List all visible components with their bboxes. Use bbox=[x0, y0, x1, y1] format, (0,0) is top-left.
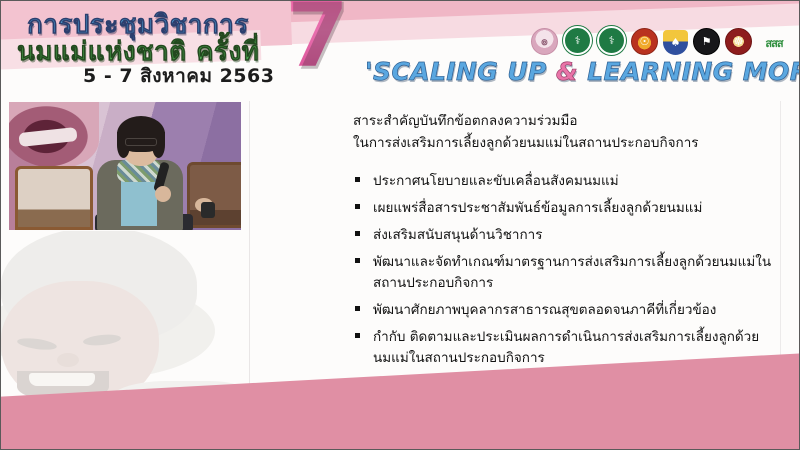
logo-glyph: ⚕ bbox=[609, 35, 615, 46]
logo-glyph: ☸ bbox=[734, 36, 744, 47]
logo-glyph: ๏ bbox=[541, 36, 548, 47]
logo-glyph: ☉ bbox=[640, 36, 650, 47]
list-item: ประกาศนโยบายและขับเคลื่อนสังคมนมแม่ bbox=[353, 171, 773, 192]
list-item: ส่งเสริมสนับสนุนด้านวิชาการ bbox=[353, 225, 773, 246]
logo-green-health-1-icon: ⚕ bbox=[563, 26, 592, 55]
logo-blue-yellow-emblem-icon: ♠ bbox=[663, 30, 688, 55]
commitment-bullet-list: ประกาศนโยบายและขับเคลื่อนสังคมนมแม่ เผยแ… bbox=[353, 171, 773, 369]
list-item-label: เผยแพร่สื่อสารประชาสัมพันธ์ข้อมูลการเลี้… bbox=[373, 200, 702, 216]
edition-number: 7 bbox=[285, 0, 349, 81]
bullet-square-icon bbox=[355, 333, 360, 338]
bullet-square-icon bbox=[355, 177, 360, 182]
list-item: เผยแพร่สื่อสารประชาสัมพันธ์ข้อมูลการเลี้… bbox=[353, 198, 773, 219]
logo-glyph: ♠ bbox=[671, 37, 681, 48]
list-item-label: ประกาศนโยบายและขับเคลื่อนสังคมนมแม่ bbox=[373, 173, 619, 189]
logo-green-health-2-icon: ⚕ bbox=[597, 26, 626, 55]
bullet-square-icon bbox=[355, 231, 360, 236]
bullet-square-icon bbox=[355, 306, 360, 311]
logo-dark-red-emblem-icon: ☸ bbox=[725, 28, 752, 55]
conference-tagline: 'SCALING UP & LEARNING MORE' bbox=[365, 57, 800, 86]
tagline-part-1: 'SCALING UP bbox=[365, 57, 556, 86]
list-item-label: พัฒนาและจัดทำเกณฑ์มาตรฐานการส่งเสริมการเ… bbox=[373, 254, 771, 291]
bullet-square-icon bbox=[355, 204, 360, 209]
content-heading-line2: ในการส่งเสริมการเลี้ยงลูกด้วยนมแม่ในสถาน… bbox=[353, 133, 773, 155]
list-item-label: ส่งเสริมสนับสนุนด้านวิชาการ bbox=[373, 227, 542, 243]
presentation-slide: การประชุมวิชาการ นมแม่แห่งชาติ ครั้งที่ … bbox=[0, 0, 800, 450]
tagline-ampersand: & bbox=[556, 57, 578, 86]
list-item-label: พัฒนาศักยภาพบุคลากรสาธารณสุขตลอดจนภาคีที… bbox=[373, 302, 716, 318]
conference-date: 5 - 7 สิงหาคม 2563 bbox=[83, 61, 274, 91]
content-heading: สาระสำคัญบันทึกข้อตกลงความร่วมมือ ในการส… bbox=[353, 111, 773, 155]
logo-thaihealth-sss-icon: สสส bbox=[757, 30, 791, 55]
bullet-square-icon bbox=[355, 258, 360, 263]
content-heading-line1: สาระสำคัญบันทึกข้อตกลงความร่วมมือ bbox=[353, 111, 773, 133]
list-item: พัฒนาศักยภาพบุคลากรสาธารณสุขตลอดจนภาคีที… bbox=[353, 300, 773, 321]
logo-glyph: ⚕ bbox=[575, 35, 581, 46]
logo-glyph: ⚑ bbox=[702, 36, 712, 47]
logo-orange-red-emblem-icon: ☉ bbox=[631, 28, 658, 55]
logo-royal-pink-emblem-icon: ๏ bbox=[531, 28, 558, 55]
slide-content: สาระสำคัญบันทึกข้อตกลงความร่วมมือ ในการส… bbox=[353, 111, 773, 375]
sponsor-logo-strip: ๏ ⚕ ⚕ ☉ ♠ ⚑ ☸ สสส bbox=[531, 25, 791, 55]
speaker-video-still bbox=[9, 102, 241, 230]
logo-black-circle-emblem-icon: ⚑ bbox=[693, 28, 720, 55]
tagline-part-2: LEARNING MORE' bbox=[578, 57, 800, 86]
list-item: พัฒนาและจัดทำเกณฑ์มาตรฐานการส่งเสริมการเ… bbox=[353, 252, 773, 294]
